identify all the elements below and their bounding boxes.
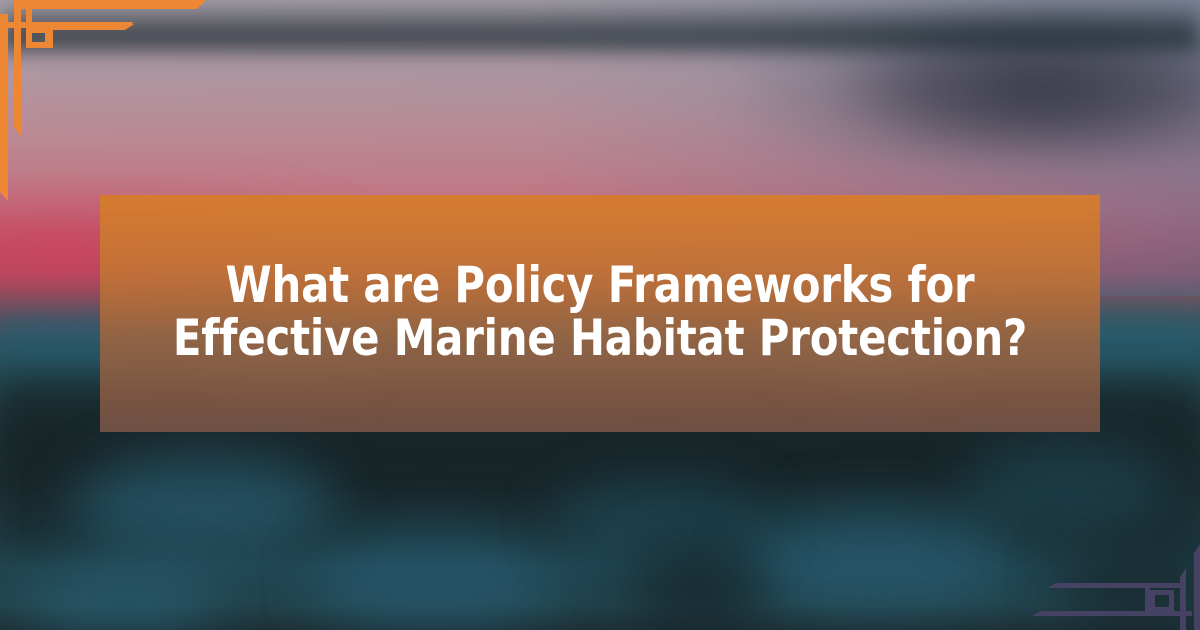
background-wave-highlight	[744, 504, 1008, 605]
title-card: What are Policy Frameworks for Effective…	[100, 195, 1100, 432]
hero-canvas: What are Policy Frameworks for Effective…	[0, 0, 1200, 630]
background-wave-highlight	[312, 529, 552, 630]
background-wave-highlight	[960, 441, 1176, 529]
background-wave-highlight	[72, 454, 336, 555]
page-title: What are Policy Frameworks for Effective…	[167, 259, 1034, 365]
background-dark-rock	[624, 542, 768, 630]
background-bottom-vignette	[0, 0, 1200, 50]
